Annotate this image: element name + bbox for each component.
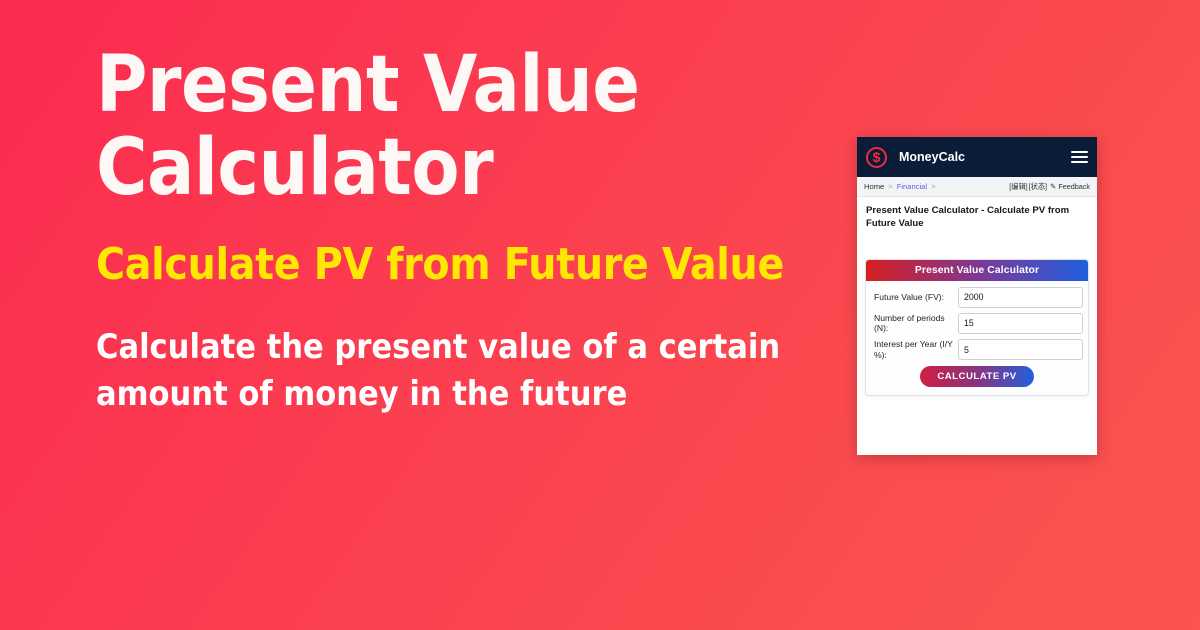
promo-block: Present Value Calculator Calculate PV fr… [96, 44, 856, 418]
calculator-form: Future Value (FV): Number of periods (N)… [866, 281, 1088, 395]
hamburger-bar-1 [1071, 151, 1088, 153]
breadcrumb-item-financial[interactable]: Financial [897, 182, 927, 191]
app-page-heading: Present Value Calculator - Calculate PV … [857, 197, 1097, 231]
feedback-link[interactable]: Feedback [1058, 182, 1090, 191]
hamburger-menu-icon[interactable] [1071, 151, 1088, 163]
breadcrumb-tools: [编辑] [状态] ✎ Feedback [1009, 182, 1090, 192]
breadcrumb-separator-1: > [888, 182, 892, 191]
breadcrumb-separator-2: > [931, 182, 935, 191]
label-interest-per-year: Interest per Year (I/Y %): [874, 339, 958, 360]
hamburger-bar-3 [1071, 161, 1088, 163]
app-navbar: $ MoneyCalc [857, 137, 1097, 177]
future-value-input[interactable] [958, 287, 1083, 308]
label-number-of-periods: Number of periods (N): [874, 313, 958, 334]
breadcrumb-item-home[interactable]: Home [864, 182, 884, 191]
form-row-interest-per-year: Interest per Year (I/Y %): [874, 339, 1080, 360]
calculate-pv-button[interactable]: CALCULATE PV [920, 366, 1033, 387]
hamburger-bar-2 [1071, 156, 1088, 158]
dollar-circle-icon: $ [866, 147, 887, 168]
interest-per-year-input[interactable] [958, 339, 1083, 360]
calculator-panel-title: Present Value Calculator [866, 260, 1088, 281]
brand-name: MoneyCalc [899, 150, 965, 164]
status-tag[interactable]: [状态] [1029, 182, 1047, 192]
promo-subtitle: Calculate PV from Future Value [96, 241, 856, 289]
page-title: Present Value Calculator [96, 44, 656, 209]
form-row-future-value: Future Value (FV): [874, 287, 1080, 308]
number-of-periods-input[interactable] [958, 313, 1083, 334]
breadcrumb: Home > Financial > [编辑] [状态] ✎ Feedback [857, 177, 1097, 197]
promo-description: Calculate the present value of a certain… [96, 324, 856, 418]
label-future-value: Future Value (FV): [874, 292, 958, 303]
form-row-number-of-periods: Number of periods (N): [874, 313, 1080, 334]
calculator-panel: Present Value Calculator Future Value (F… [865, 259, 1089, 396]
app-preview-card: $ MoneyCalc Home > Financial > [编辑] [状态]… [857, 137, 1097, 455]
edit-tag[interactable]: [编辑] [1009, 182, 1027, 192]
edit-pencil-icon[interactable]: ✎ [1050, 182, 1056, 191]
